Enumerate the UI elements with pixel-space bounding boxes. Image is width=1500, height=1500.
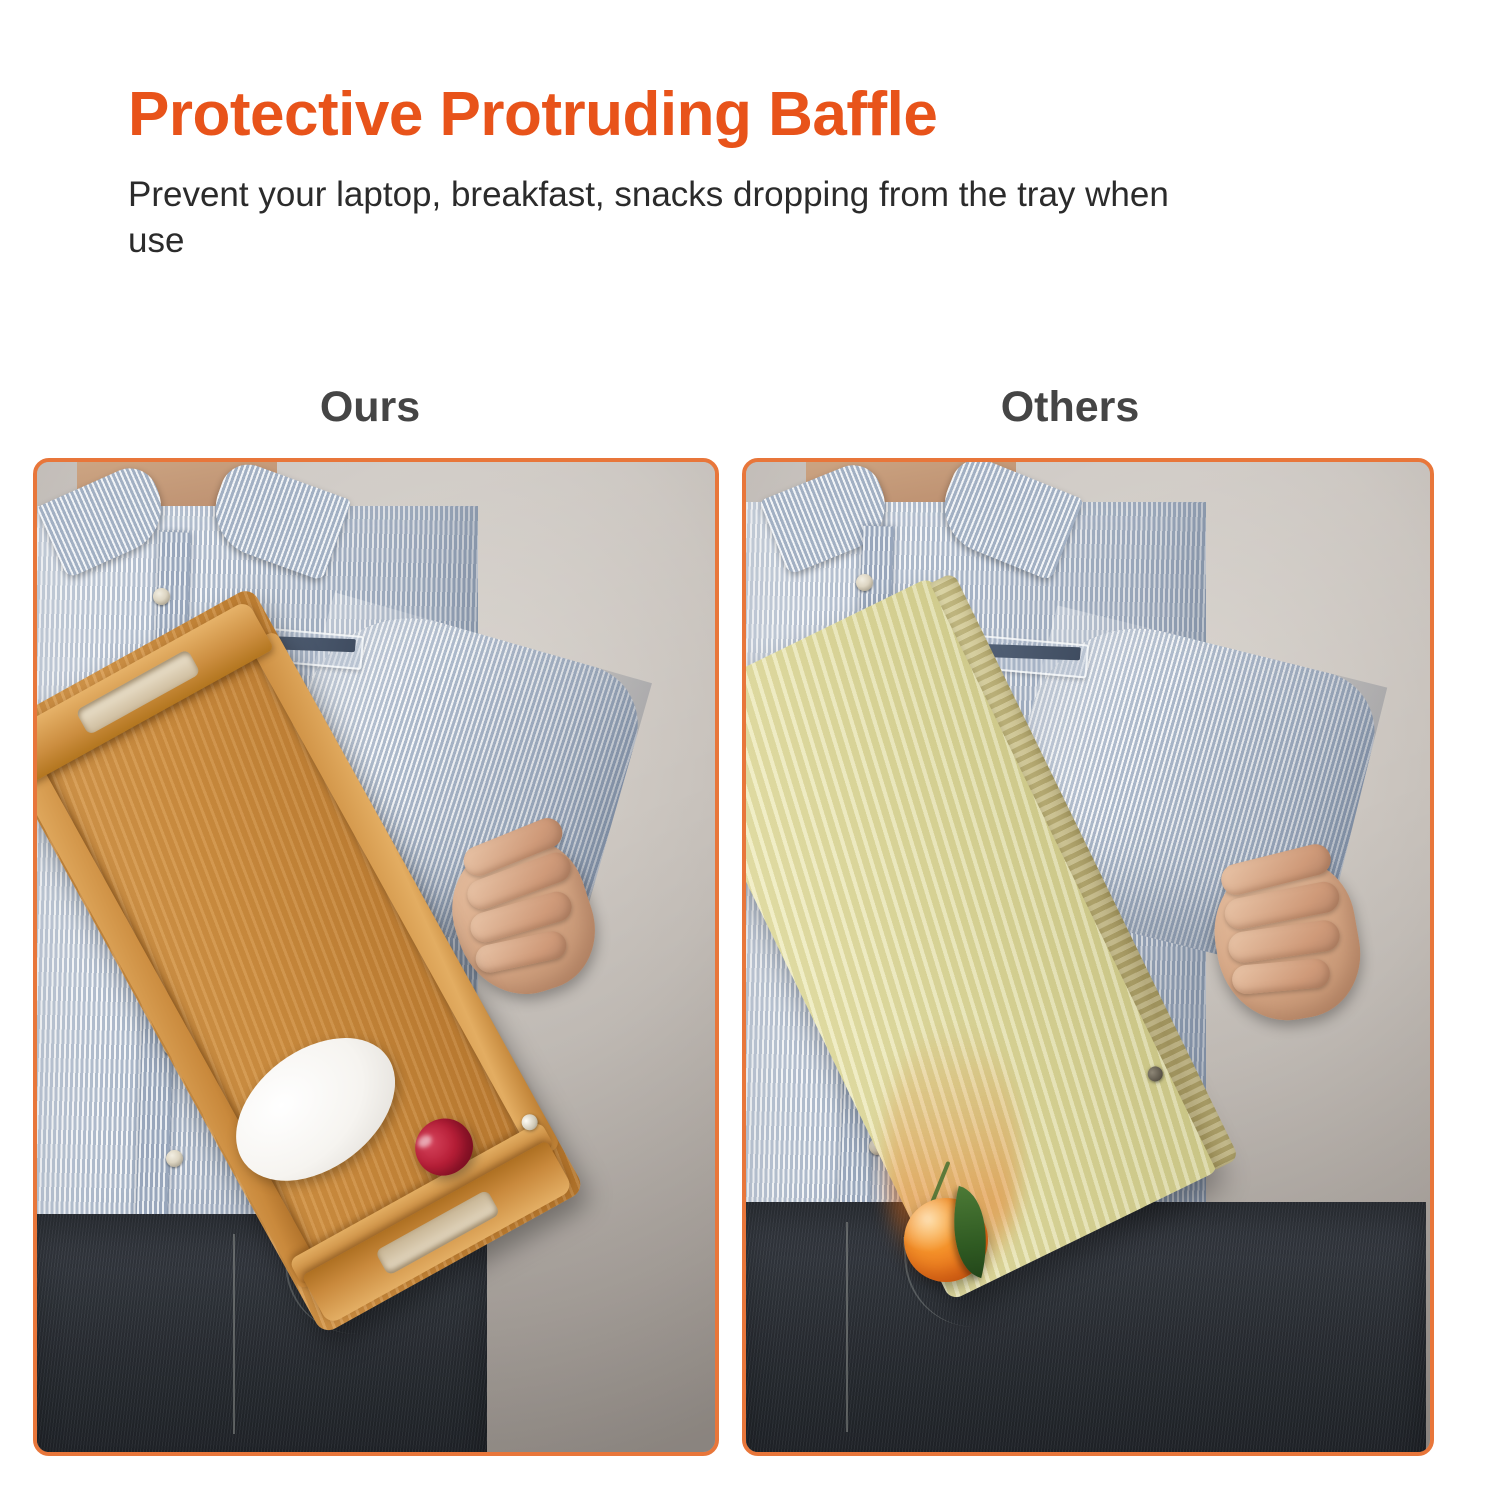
shirt-button	[856, 574, 873, 591]
photo-ours	[37, 462, 715, 1452]
shirt-button	[153, 588, 170, 605]
header-block: Protective Protruding Baffle Prevent you…	[128, 82, 1308, 264]
photo-others	[746, 462, 1430, 1452]
label-ours: Ours	[220, 383, 520, 432]
comparison-panel-ours	[33, 458, 719, 1456]
comparison-panel-others	[742, 458, 1434, 1456]
page-title: Protective Protruding Baffle	[128, 82, 1308, 147]
jeans-fly-seam	[233, 1234, 235, 1434]
falling-orange	[886, 1152, 1026, 1312]
page-subtitle: Prevent your laptop, breakfast, snacks d…	[128, 172, 1173, 264]
label-others: Others	[920, 383, 1220, 432]
shirt-button	[166, 1150, 183, 1167]
jeans-fly-seam	[846, 1222, 848, 1432]
